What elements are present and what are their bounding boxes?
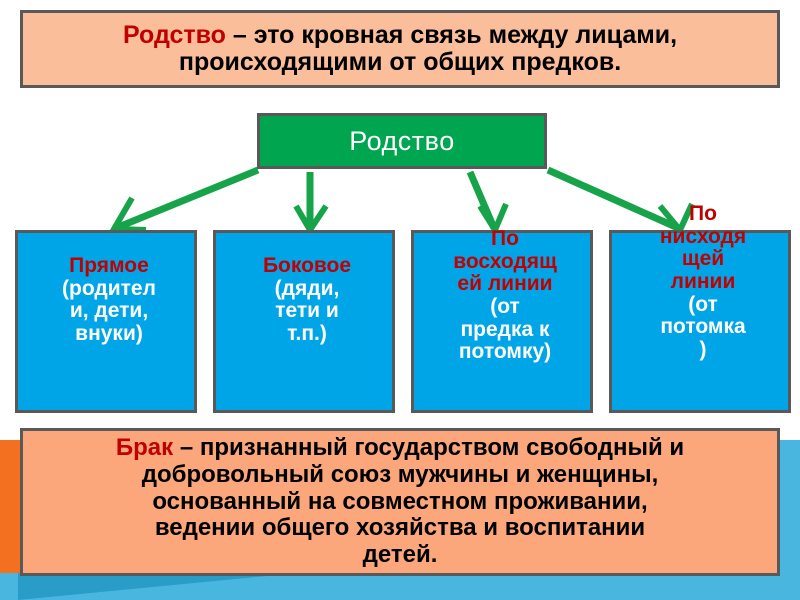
- category-title-3-line-0: По: [606, 203, 800, 226]
- slide-canvas: Родство – это кровная связь между лицами…: [0, 0, 800, 600]
- category-sub-2-line-0: (от: [408, 296, 602, 319]
- brak-line-2: добровольный союз мужчины и женщины,: [142, 462, 659, 489]
- category-title-3-line-2: щей: [606, 248, 800, 271]
- category-text-0: Прямое (родител и, дети, внуки): [12, 255, 206, 346]
- category-sub-0-line-1: и, дети,: [12, 300, 206, 323]
- category-sub-3-line-1: потомка: [606, 316, 800, 339]
- category-title-2-line-1: восходящ: [408, 251, 602, 274]
- category-title-1: Боковое: [210, 255, 404, 278]
- brak-text-1: признанный государством свободный и: [200, 434, 684, 461]
- brak-line-4: ведении общего хозяйства и воспитании: [155, 515, 645, 542]
- category-sub-3-line-2: ): [606, 339, 800, 362]
- category-sub-0-line-0: (родител: [12, 278, 206, 301]
- category-text-3: По нисходя щей линии (от потомка ): [606, 203, 800, 362]
- category-box-pryamoe: Прямое (родител и, дети, внуки): [15, 230, 197, 413]
- category-sub-2-line-1: предка к: [408, 319, 602, 342]
- category-box-niskhodyashchaya: По нисходя щей линии (от потомка ): [609, 230, 791, 413]
- category-title-2-line-2: ей линии: [408, 273, 602, 296]
- arrow-line-1: [116, 170, 258, 228]
- category-title-0: Прямое: [12, 255, 206, 278]
- category-sub-1-line-2: т.п.): [210, 323, 404, 346]
- brak-line-3: основанный на совместном проживании,: [152, 489, 647, 516]
- brak-line-1: Брак – признанный государством свободный…: [116, 435, 684, 462]
- category-box-voskhodyashchaya: По восходящ ей линии (от предка к потомк…: [411, 230, 593, 413]
- category-title-3-line-3: линии: [606, 271, 800, 294]
- brak-line-5: детей.: [363, 542, 438, 569]
- brak-keyword: Брак: [116, 434, 173, 461]
- category-box-bokovoe: Боковое (дяди, тети и т.п.): [213, 230, 395, 413]
- category-title-3-line-1: нисходя: [606, 226, 800, 249]
- category-sub-1-line-0: (дяди,: [210, 278, 404, 301]
- category-sub-3-line-0: (от: [606, 294, 800, 317]
- category-sub-1-line-1: тети и: [210, 300, 404, 323]
- category-text-2: По восходящ ей линии (от предка к потомк…: [408, 228, 602, 364]
- category-text-1: Боковое (дяди, тети и т.п.): [210, 255, 404, 346]
- brak-dash: –: [173, 434, 200, 461]
- category-title-2-line-0: По: [408, 228, 602, 251]
- category-sub-0-line-2: внуки): [12, 323, 206, 346]
- category-sub-2-line-2: потомку): [408, 341, 602, 364]
- definition-panel-brak: Брак – признанный государством свободный…: [20, 428, 780, 576]
